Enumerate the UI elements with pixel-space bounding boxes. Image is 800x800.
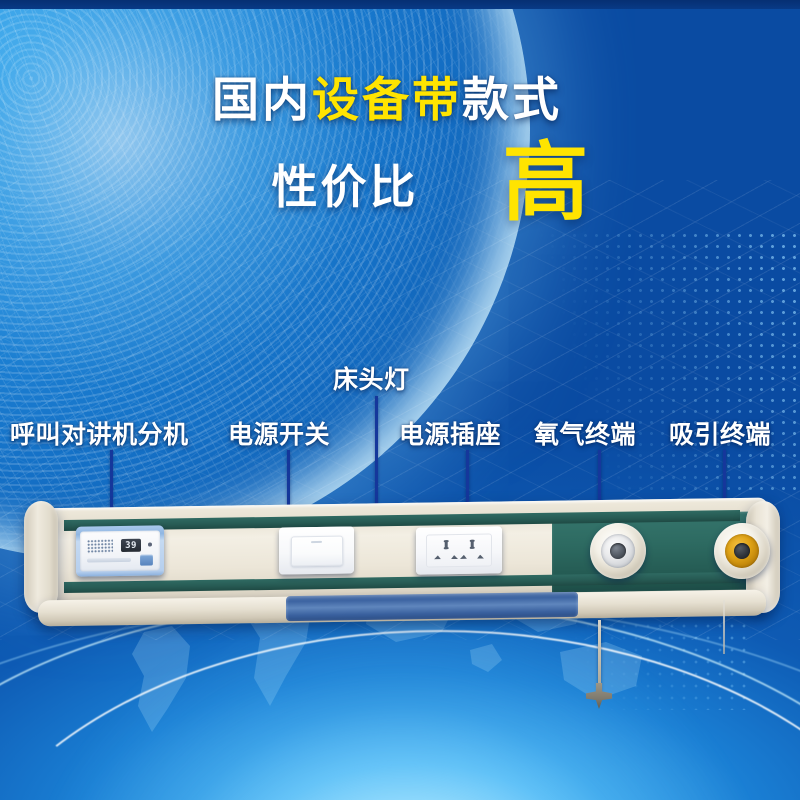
socket-faceplate [426, 534, 492, 568]
callout-power-switch: 电源开关 [228, 415, 330, 451]
oxygen-terminal-ring [601, 534, 635, 569]
bed-light-diffuser [286, 592, 578, 621]
headline-block: 国内设备带款式 性价比 高 [0, 76, 800, 225]
power-switch-device[interactable] [279, 526, 354, 574]
headline-part-2: 款式 [462, 73, 562, 128]
poster-canvas: 国内设备带款式 性价比 高 呼叫对讲机分机 电源开关 床头灯 电源插座 氧气终端… [0, 0, 800, 800]
callout-power-socket: 电源插座 [399, 415, 501, 451]
headline-highlight: 设备带 [312, 73, 462, 128]
oxygen-hose-line [598, 620, 601, 692]
callout-bed-light: 床头灯 [333, 360, 410, 396]
rocker-switch-icon[interactable] [291, 535, 343, 566]
headline-emphasis-character: 高 [503, 143, 589, 225]
headline-line-2: 性价比 [272, 151, 419, 217]
power-socket-device[interactable] [416, 526, 502, 574]
status-led-icon [148, 543, 152, 547]
socket-outlet-left-icon [433, 539, 459, 561]
intercom-faceplate: 39 [80, 530, 160, 571]
callout-suction-terminal: 吸引终端 [669, 415, 771, 451]
oxygen-terminal-port-icon [610, 543, 626, 559]
intercom-slot [87, 558, 131, 563]
callout-nurse-call-intercom: 呼叫对讲机分机 [10, 415, 189, 451]
headline-line-1: 国内设备带款式 [0, 76, 800, 125]
speaker-grille-icon [87, 539, 113, 554]
suction-terminal-port-icon [734, 543, 750, 559]
headline-part-1: 国内 [212, 73, 312, 128]
nurse-call-intercom-device[interactable]: 39 [76, 525, 164, 576]
unit-end-cap-left [24, 501, 58, 614]
call-button-icon[interactable] [140, 555, 153, 566]
bed-head-unit: 39 [24, 497, 780, 629]
suction-hose-line [723, 600, 725, 654]
halftone-dot-field [470, 230, 800, 490]
headline-line-2-row: 性价比 高 [0, 143, 800, 225]
top-dark-band [0, 0, 800, 9]
intercom-display: 39 [121, 539, 141, 552]
socket-outlet-right-icon [459, 539, 485, 561]
callout-oxygen-terminal: 氧气终端 [534, 415, 636, 451]
suction-terminal-ring [725, 534, 759, 569]
